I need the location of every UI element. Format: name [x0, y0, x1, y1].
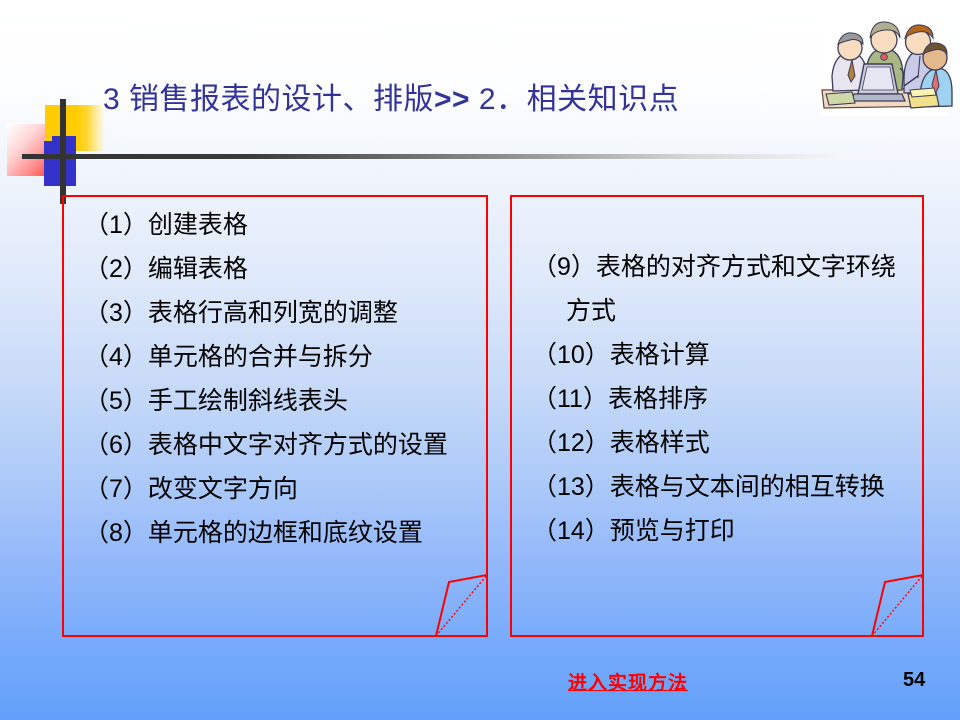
page-title: 3 销售报表的设计、排版>> 2．相关知识点 [103, 79, 679, 121]
slide-canvas: 3 销售报表的设计、排版>> 2．相关知识点 [0, 0, 960, 720]
page-title-suffix: 2．相关知识点 [470, 83, 679, 116]
knowledge-points-box-left: （1）创建表格 （2）编辑表格 （3）表格行高和列宽的调整 （4）单元格的合并与… [62, 195, 488, 637]
decor-horizontal-rule [22, 154, 952, 159]
team-at-laptop-icon [808, 2, 954, 126]
list-item: （1）创建表格 [84, 203, 474, 247]
list-item: （8）单元格的边框和底纹设置 [84, 511, 474, 555]
enter-implementation-link[interactable]: 进入实现方法 [568, 668, 688, 695]
box-left-content: （1）创建表格 （2）编辑表格 （3）表格行高和列宽的调整 （4）单元格的合并与… [62, 203, 488, 555]
list-item: （3）表格行高和列宽的调整 [84, 291, 474, 335]
list-item: （5）手工绘制斜线表头 [84, 379, 474, 423]
box-right-content: （9）表格的对齐方式和文字环绕方式 （10）表格计算 （11）表格排序 （12）… [510, 245, 924, 553]
list-item: （12）表格样式 [532, 421, 910, 465]
decor-vertical-rule [60, 99, 66, 204]
list-item: （4）单元格的合并与拆分 [84, 335, 474, 379]
page-title-prefix: 3 销售报表的设计、排版 [103, 83, 434, 116]
list-item: （11）表格排序 [532, 377, 910, 421]
knowledge-points-box-right: （9）表格的对齐方式和文字环绕方式 （10）表格计算 （11）表格排序 （12）… [510, 195, 924, 637]
page-title-separator: >> [434, 83, 470, 116]
list-item: （13）表格与文本间的相互转换 [532, 465, 910, 509]
list-item: （10）表格计算 [532, 333, 910, 377]
page-number: 54 [903, 669, 925, 692]
list-item: （14）预览与打印 [532, 509, 910, 553]
list-item: （7）改变文字方向 [84, 467, 474, 511]
list-item: （2）编辑表格 [84, 247, 474, 291]
list-item: （6）表格中文字对齐方式的设置 [84, 423, 474, 467]
list-item: （9）表格的对齐方式和文字环绕方式 [532, 245, 910, 333]
